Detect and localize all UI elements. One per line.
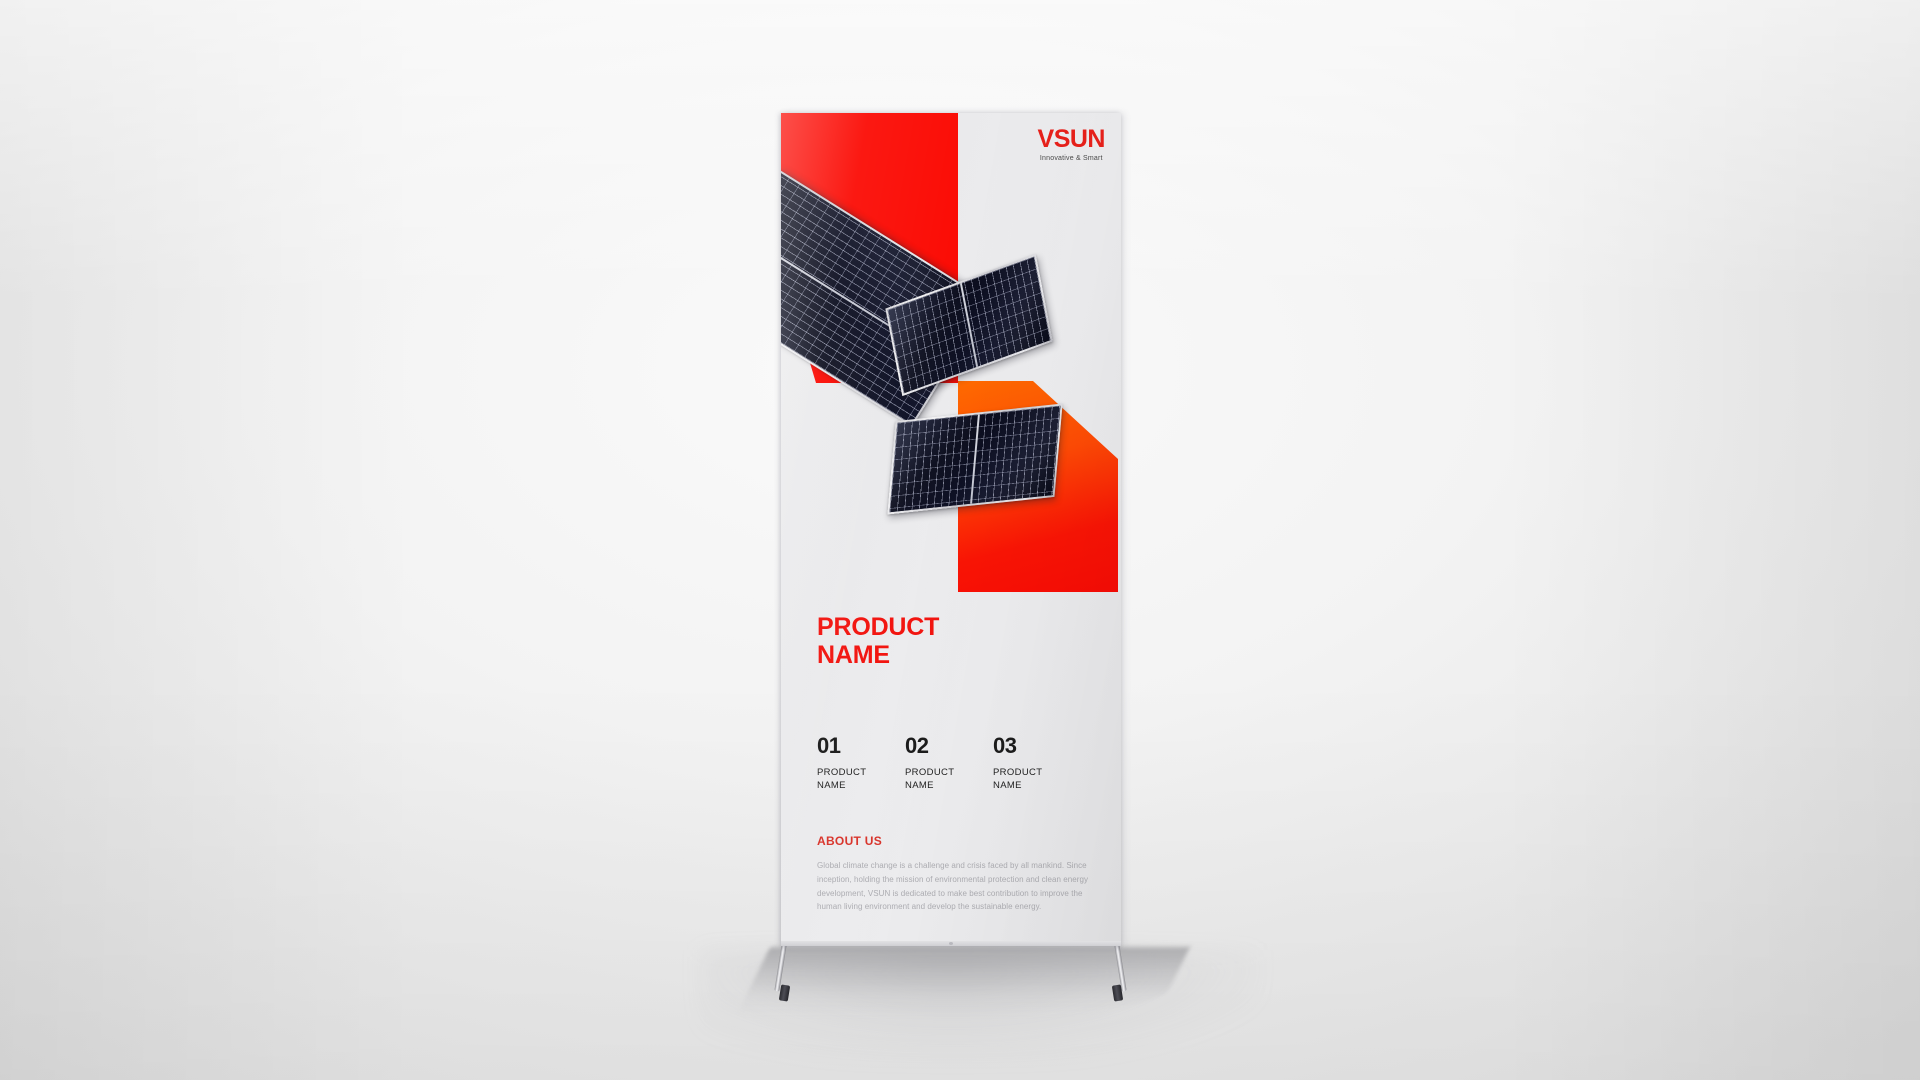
page-title-line-2: NAME: [817, 641, 1099, 669]
page-title: PRODUCT NAME: [817, 613, 1099, 669]
brand-logo-wordmark: VSUN: [1038, 127, 1105, 152]
feature-number: 03: [993, 735, 1081, 757]
feature-item-01: 01 PRODUCT NAME: [817, 735, 905, 792]
solar-panel-lower: [887, 404, 1062, 515]
roll-up-banner: VSUN Innovative & Smart PRODUCT NAME 01 …: [781, 113, 1121, 946]
solar-panel-gloss: [890, 406, 1061, 512]
about-section-title: ABOUT US: [817, 834, 1099, 848]
about-section-body: Global climate change is a challenge and…: [817, 859, 1095, 914]
feature-label: PRODUCT NAME: [993, 766, 1081, 792]
banner-content: PRODUCT NAME 01 PRODUCT NAME 02 PRODUCT …: [817, 613, 1099, 914]
scene: VSUN Innovative & Smart PRODUCT NAME 01 …: [0, 0, 1920, 1080]
brand-logo-tagline: Innovative & Smart: [1038, 155, 1105, 162]
feature-label-line-1: PRODUCT: [993, 766, 1081, 779]
brand-logo: VSUN Innovative & Smart: [1038, 127, 1105, 162]
feature-label-line-1: PRODUCT: [905, 766, 993, 779]
feature-number: 01: [817, 735, 905, 757]
solar-panel-face: [890, 406, 1061, 512]
feature-number: 02: [905, 735, 993, 757]
feature-label: PRODUCT NAME: [905, 766, 993, 792]
page-title-line-1: PRODUCT: [817, 613, 1099, 641]
feature-label-line-2: NAME: [905, 779, 993, 792]
feature-label-line-1: PRODUCT: [817, 766, 905, 779]
about-section: ABOUT US Global climate change is a chal…: [817, 834, 1099, 914]
feature-item-03: 03 PRODUCT NAME: [993, 735, 1081, 792]
banner-roller-base-dot: [949, 942, 953, 945]
feature-item-02: 02 PRODUCT NAME: [905, 735, 993, 792]
feature-list: 01 PRODUCT NAME 02 PRODUCT NAME 03: [817, 735, 1099, 792]
feature-label-line-2: NAME: [817, 779, 905, 792]
feature-label-line-2: NAME: [993, 779, 1081, 792]
feature-label: PRODUCT NAME: [817, 766, 905, 792]
